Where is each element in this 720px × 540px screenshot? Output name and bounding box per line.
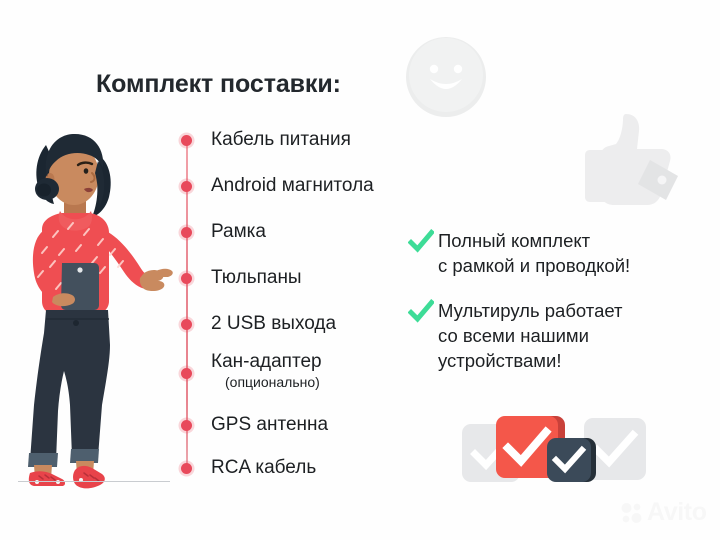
avito-wordmark: Avito xyxy=(647,500,707,525)
list-item-label: Кабель питания xyxy=(211,130,351,150)
avito-watermark: Avito xyxy=(620,500,707,525)
thumbs-up-icon xyxy=(578,108,686,212)
green-check-icon xyxy=(408,229,434,255)
list-item: Тюльпаны xyxy=(178,268,302,288)
list-item-sub-label: (опционально) xyxy=(225,374,322,390)
promo-card: Комплект поставки: Кабель питания Androi… xyxy=(0,0,720,540)
list-item-label: Тюльпаны xyxy=(211,268,302,288)
list-item: Android магнитола xyxy=(178,176,374,196)
list-item-label: Рамка xyxy=(211,222,266,242)
benefit-label: Полный комплект с рамкой и проводкой! xyxy=(438,228,630,278)
list-item-label: RCA кабель xyxy=(211,458,316,478)
benefit-item: Мультируль работает со всеми нашими устр… xyxy=(408,298,623,373)
benefit-label: Мультируль работает со всеми нашими устр… xyxy=(438,298,623,373)
list-item-main-label: Кан-адаптер xyxy=(211,351,322,372)
list-item: Кан-адаптер (опционально) xyxy=(178,352,322,390)
green-check-icon xyxy=(408,299,434,325)
woman-pointing-illustration xyxy=(6,105,191,505)
list-item-label: Android магнитола xyxy=(211,176,374,196)
list-item: RCA кабель xyxy=(178,458,316,478)
list-item: Рамка xyxy=(178,222,266,242)
checkbox-dark xyxy=(547,438,591,482)
page-title: Комплект поставки: xyxy=(96,70,341,99)
ground-line xyxy=(18,481,170,482)
smiley-face-icon xyxy=(404,35,488,119)
avito-logo-icon xyxy=(620,501,644,525)
benefit-item: Полный комплект с рамкой и проводкой! xyxy=(408,228,630,278)
list-item-label: GPS антенна xyxy=(211,415,328,435)
checkbox-group-icon xyxy=(462,408,642,484)
kit-contents-list: Кабель питания Android магнитола Рамка Т… xyxy=(178,130,428,470)
list-item-label: Кан-адаптер (опционально) xyxy=(211,352,322,390)
list-item: 2 USB выхода xyxy=(178,314,336,334)
list-item: Кабель питания xyxy=(178,130,351,150)
list-item: GPS антенна xyxy=(178,415,328,435)
list-item-label: 2 USB выхода xyxy=(211,314,336,334)
